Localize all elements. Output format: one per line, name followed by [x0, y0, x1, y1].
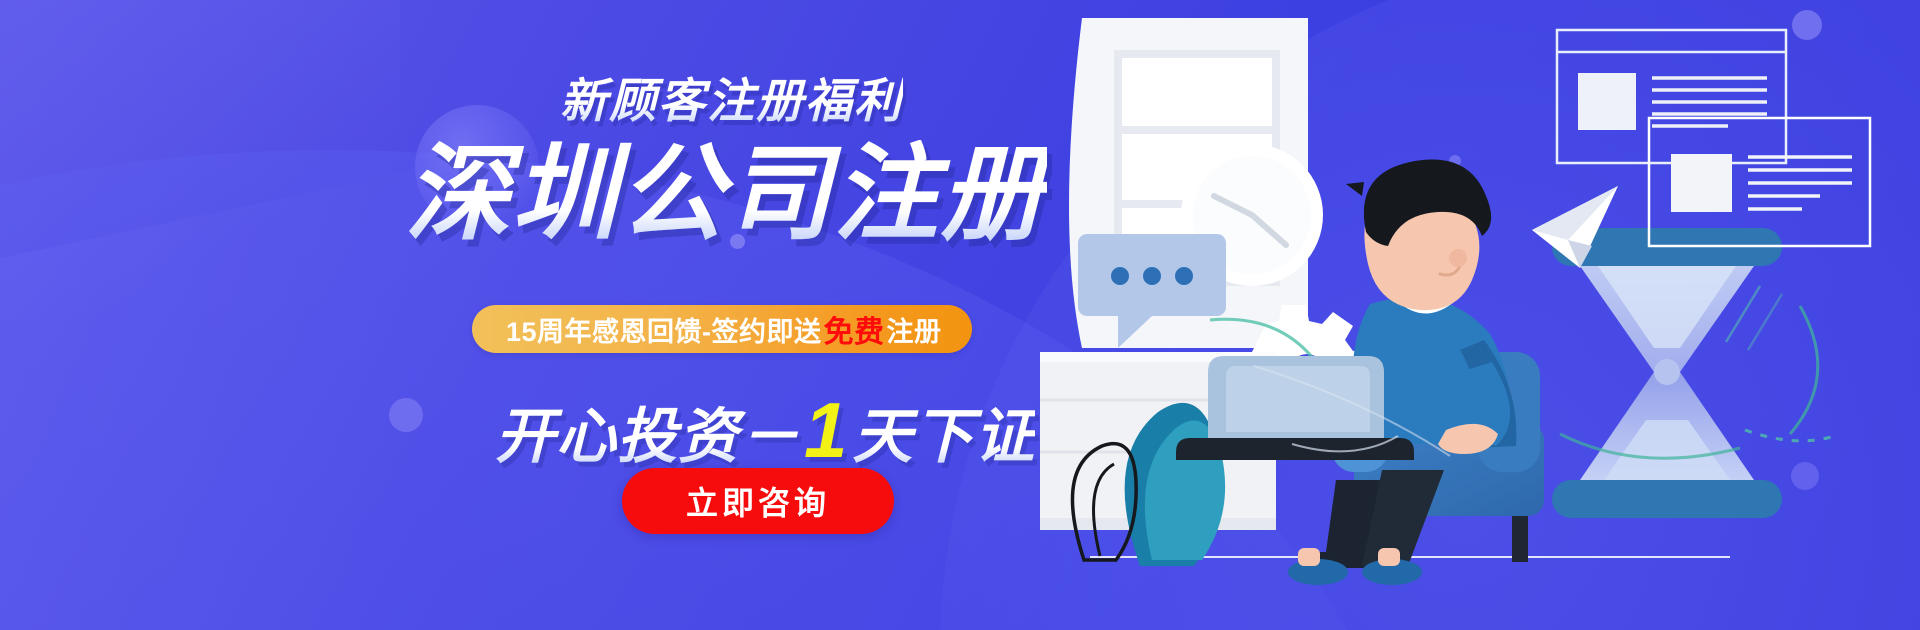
subline-text: 开心投资－1天下证	[495, 385, 1035, 476]
promo-pill-tail: 注册	[887, 310, 942, 349]
page-title: 深圳公司注册	[405, 140, 1047, 250]
eyebrow-text: 新顾客注册福利	[560, 62, 903, 131]
promo-pill-badge: 15周年感恩回馈-签约即送 免费 注册	[472, 305, 972, 353]
promo-pill-lead: 15周年感恩回馈-签约即送	[506, 310, 822, 349]
document-card-front	[1649, 118, 1870, 246]
subline-after: 天下证	[852, 403, 1035, 470]
promo-pill-highlight: 免费	[822, 307, 887, 351]
illustration-scene	[1040, 0, 1920, 630]
subline-number: 1	[800, 386, 852, 474]
hourglass-icon	[1552, 228, 1835, 518]
subline-before: 开心投资－	[495, 403, 800, 470]
copy-block: 新顾客注册福利 深圳公司注册 15周年感恩回馈-签约即送 免费 注册 开心投资－…	[0, 0, 1080, 630]
consult-now-button[interactable]: 立即咨询	[622, 468, 894, 534]
document-card-back	[1557, 30, 1786, 163]
promo-banner: 新顾客注册福利 深圳公司注册 15周年感恩回馈-签约即送 免费 注册 开心投资－…	[0, 0, 1920, 630]
